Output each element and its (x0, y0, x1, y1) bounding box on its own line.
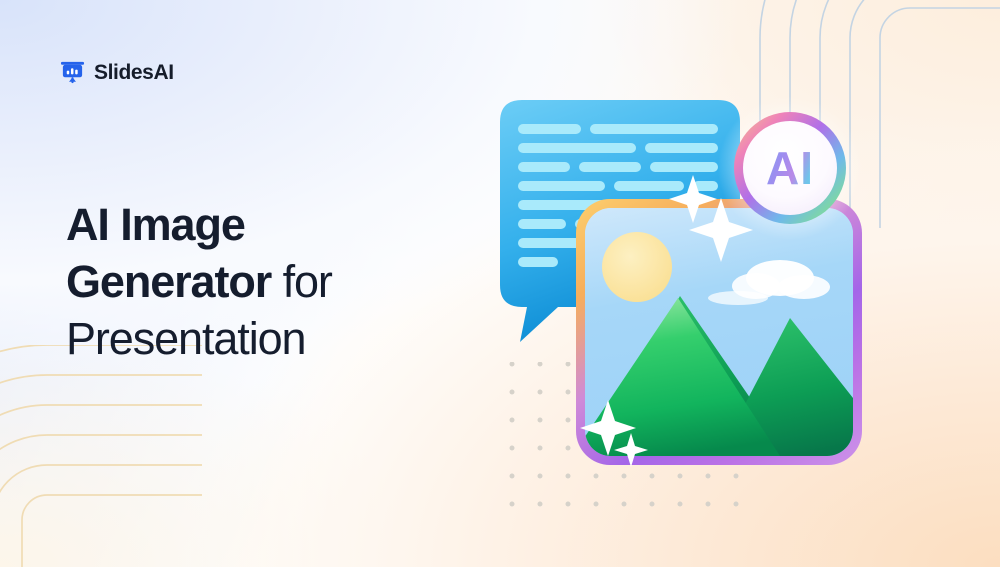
hero-illustration: AI (480, 80, 880, 530)
slides-presentation-icon (60, 60, 85, 85)
sun-icon (602, 232, 672, 302)
arc-decor-bottom-left (0, 345, 212, 567)
headline-regular-line: Presentation (66, 313, 305, 364)
ai-badge-label: AI (766, 142, 814, 194)
ai-badge: AI (718, 96, 862, 240)
headline-inline (271, 256, 282, 307)
brand-name: SlidesAI (94, 62, 174, 83)
headline-bold: AI Image Generator (66, 199, 271, 307)
illustration-svg: AI (480, 80, 880, 530)
hero-banner: SlidesAI AI Image Generator for Presenta… (0, 0, 1000, 567)
brand-logo[interactable]: SlidesAI (60, 60, 174, 85)
page-title: AI Image Generator for Presentation (66, 196, 486, 367)
headline-regular-inline: for (283, 256, 332, 307)
